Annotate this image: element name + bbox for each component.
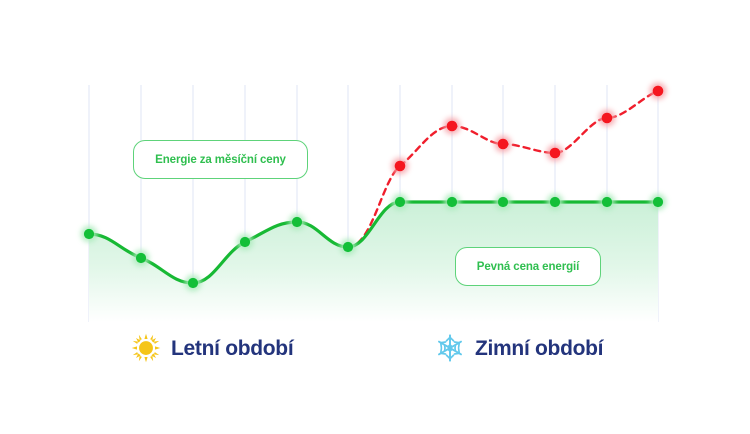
snowflake-icon — [435, 333, 465, 363]
chart-figure: Energie za měsíční ceny Pevná cena energ… — [0, 0, 750, 434]
legend-winter-period: Zimní období — [435, 333, 603, 363]
badge-fixed-label: Pevná cena energií — [477, 261, 579, 273]
badge-monthly-prices: Energie za měsíční ceny — [133, 140, 308, 179]
market-price-markers — [392, 83, 667, 175]
legend-winter-label: Zimní období — [475, 338, 603, 359]
legend-summer-label: Letní období — [171, 338, 293, 359]
legend-summer-period: Letní období — [131, 333, 293, 363]
sun-icon — [131, 333, 161, 363]
chart-canvas — [0, 0, 750, 434]
badge-fixed-price: Pevná cena energií — [455, 247, 601, 286]
badge-monthly-label: Energie za měsíční ceny — [155, 154, 286, 166]
